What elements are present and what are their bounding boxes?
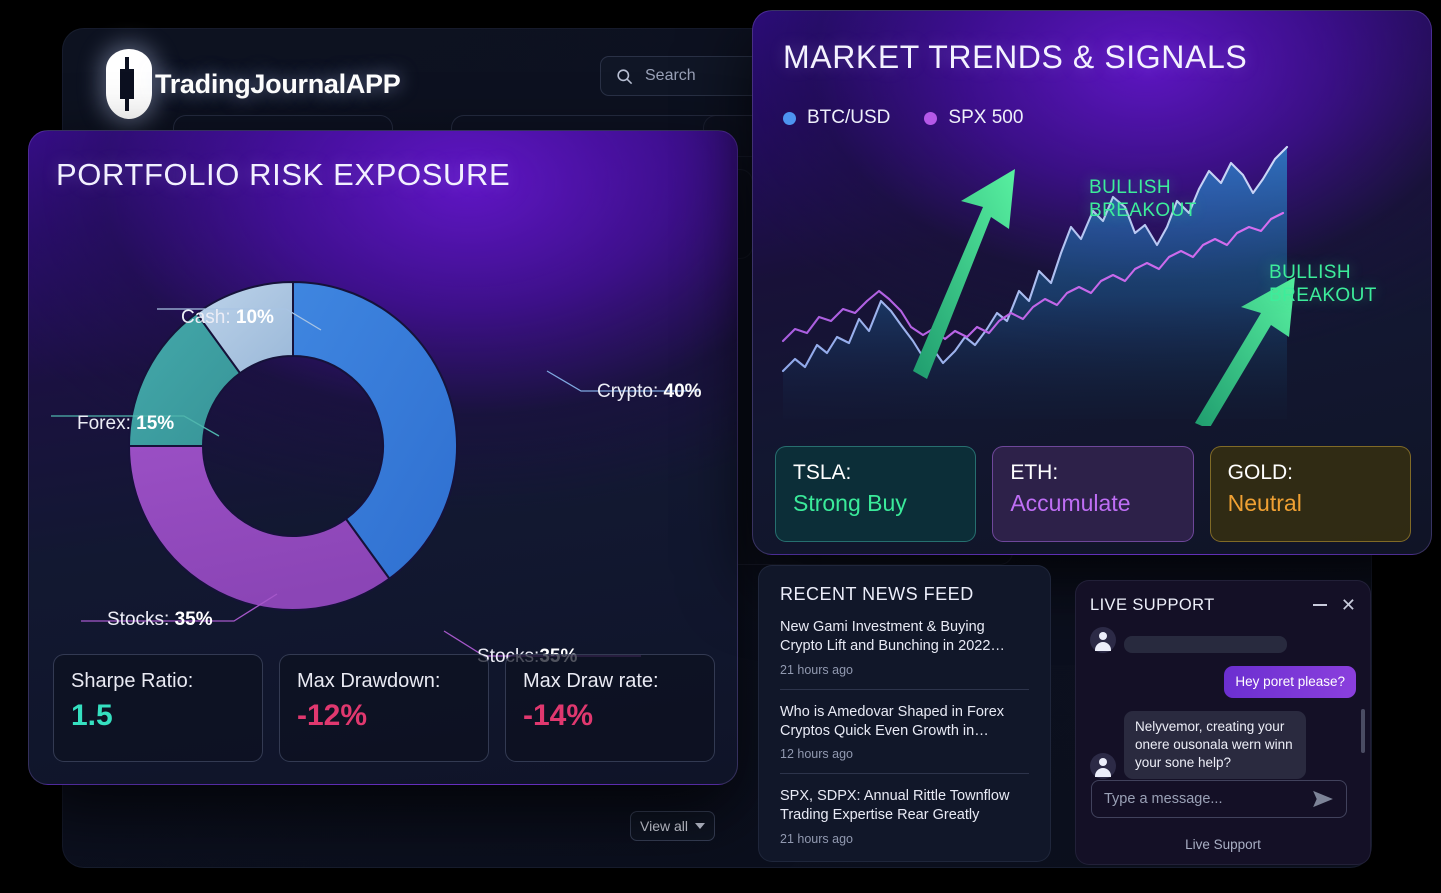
annotation-bullish-breakout-1: BULLISH BREAKOUT (1089, 176, 1197, 222)
chat-footer-label: Live Support (1076, 837, 1370, 852)
chat-bubble-incoming: Nelyvemor, creating your onere ousonala … (1124, 711, 1306, 779)
metric-max-drawdown: Max Drawdown: -12% (279, 654, 489, 762)
news-timestamp: 21 hours ago (780, 663, 1029, 677)
signal-ticker: TSLA: (793, 461, 958, 485)
chat-input-placeholder: Type a message... (1104, 791, 1222, 807)
donut-label-crypto: Crypto: 40% (597, 381, 702, 403)
live-support-chat-card: LIVE SUPPORT ✕ Hey poret please? Nelyvem… (1075, 580, 1371, 865)
chat-bubble-outgoing: Hey poret please? (1224, 666, 1356, 698)
news-timestamp: 21 hours ago (780, 832, 1029, 846)
legend-dot-icon (924, 112, 937, 125)
user-avatar-icon (1090, 627, 1116, 653)
metric-value: 1.5 (71, 699, 245, 733)
portfolio-risk-exposure-card: PORTFOLIO RISK EXPOSURE (28, 130, 738, 785)
metric-label: Max Draw rate: (523, 670, 697, 693)
market-trends-card: MARKET TRENDS & SIGNALS BTC/USD SPX 500 (752, 10, 1432, 555)
metric-label: Sharpe Ratio: (71, 670, 245, 693)
market-title: MARKET TRENDS & SIGNALS (783, 39, 1247, 76)
metric-value: -14% (523, 699, 697, 733)
close-icon[interactable]: ✕ (1341, 596, 1356, 614)
portfolio-donut-chart: Cash: 10% Crypto: 40% Forex: 15% Stocks:… (29, 201, 738, 661)
send-icon[interactable] (1312, 790, 1334, 808)
chat-title: LIVE SUPPORT (1090, 596, 1215, 615)
app-name: TradingJournalAPP (155, 69, 400, 100)
legend-item-spx: SPX 500 (924, 107, 1023, 129)
news-headline: New Gami Investment & Buying Crypto Lift… (780, 618, 1029, 656)
search-placeholder: Search (645, 67, 696, 85)
signal-card-gold[interactable]: GOLD: Neutral (1210, 446, 1411, 542)
portfolio-metrics: Sharpe Ratio: 1.5 Max Drawdown: -12% Max… (53, 654, 715, 762)
signal-ticker: GOLD: (1228, 461, 1393, 485)
legend-item-btc: BTC/USD (783, 107, 890, 129)
chat-scrollbar[interactable] (1361, 709, 1365, 753)
view-all-label: View all (640, 818, 688, 834)
search-icon (615, 67, 634, 86)
donut-label-forex: Forex: 15% (77, 413, 174, 435)
news-headline: SPX, SDPX: Annual Rittle Townflow Tradin… (780, 787, 1029, 825)
chat-message-input[interactable]: Type a message... (1091, 780, 1347, 818)
legend-dot-icon (783, 112, 796, 125)
news-item[interactable]: New Gami Investment & Buying Crypto Lift… (780, 605, 1029, 677)
market-signal-cards: TSLA: Strong Buy ETH: Accumulate GOLD: N… (775, 446, 1411, 542)
chevron-down-icon (695, 823, 705, 829)
signal-ticker: ETH: (1010, 461, 1175, 485)
metric-value: -12% (297, 699, 471, 733)
minimize-icon[interactable] (1313, 604, 1327, 606)
metric-max-draw-rate: Max Draw rate: -14% (505, 654, 715, 762)
chat-message-user: Hey poret please? (1090, 666, 1356, 698)
signal-status: Neutral (1228, 490, 1393, 517)
market-line-chart: BULLISH BREAKOUT BULLISH BREAKOUT (775, 141, 1432, 426)
chat-message-agent-placeholder (1090, 627, 1356, 653)
recent-news-feed-card: RECENT NEWS FEED New Gami Investment & B… (758, 565, 1051, 862)
metric-sharpe-ratio: Sharpe Ratio: 1.5 (53, 654, 263, 762)
legend-label: SPX 500 (948, 107, 1023, 129)
signal-status: Accumulate (1010, 490, 1175, 517)
metric-label: Max Drawdown: (297, 670, 471, 693)
portfolio-title: PORTFOLIO RISK EXPOSURE (56, 157, 510, 193)
chat-message-agent: Nelyvemor, creating your onere ousonala … (1090, 711, 1356, 779)
signal-card-eth[interactable]: ETH: Accumulate (992, 446, 1193, 542)
chat-message-list[interactable]: Hey poret please? Nelyvemor, creating yo… (1076, 621, 1370, 789)
market-legend: BTC/USD SPX 500 (783, 107, 1023, 129)
candlestick-logo-icon (101, 47, 157, 121)
user-avatar-icon (1090, 753, 1116, 779)
legend-label: BTC/USD (807, 107, 890, 129)
signal-status: Strong Buy (793, 490, 958, 517)
chat-header: LIVE SUPPORT ✕ (1090, 594, 1356, 616)
news-item[interactable]: SPX, SDPX: Annual Rittle Townflow Tradin… (780, 773, 1029, 846)
view-all-dropdown[interactable]: View all (630, 811, 715, 841)
donut-label-cash: Cash: 10% (181, 307, 274, 329)
chat-bubble-placeholder (1124, 636, 1287, 653)
news-feed-title: RECENT NEWS FEED (780, 584, 1029, 605)
news-headline: Who is Amedovar Shaped in Forex Cryptos … (780, 703, 1029, 741)
donut-label-stocks-left: Stocks: 35% (107, 609, 213, 631)
signal-card-tsla[interactable]: TSLA: Strong Buy (775, 446, 976, 542)
donut-segment-stocks (129, 446, 389, 610)
news-timestamp: 12 hours ago (780, 747, 1029, 761)
annotation-bullish-breakout-2: BULLISH BREAKOUT (1269, 261, 1377, 307)
news-item[interactable]: Who is Amedovar Shaped in Forex Cryptos … (780, 689, 1029, 762)
